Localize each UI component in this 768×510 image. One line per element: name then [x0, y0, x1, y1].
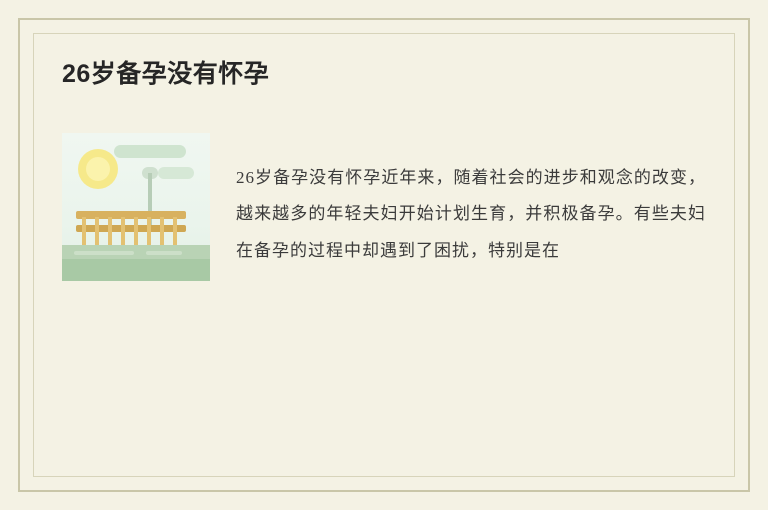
cloud-small-icon: [158, 167, 194, 179]
article-thumbnail[interactable]: [62, 133, 210, 281]
article-page: 26岁备孕没有怀孕: [0, 0, 768, 510]
fence-slat: [173, 217, 177, 247]
fence-slat: [134, 217, 138, 247]
fence-slat: [95, 217, 99, 247]
fence-slat: [108, 217, 112, 247]
fence-slat: [160, 217, 164, 247]
ground-stripe: [146, 251, 182, 255]
fence-slat: [82, 217, 86, 247]
sun-core-icon: [86, 157, 110, 181]
article-excerpt: 26岁备孕没有怀孕近年来，随着社会的进步和观念的改变，越来越多的年轻夫妇开始计划…: [236, 150, 706, 270]
article-body: 26岁备孕没有怀孕近年来，随着社会的进步和观念的改变，越来越多的年轻夫妇开始计划…: [62, 133, 706, 287]
ground-stripe: [74, 251, 134, 255]
article-content: 26岁备孕没有怀孕: [62, 58, 706, 460]
fence-rail-top: [76, 211, 186, 219]
page-title: 26岁备孕没有怀孕: [62, 58, 706, 91]
ground-lower: [62, 259, 210, 281]
fence-rail-bottom: [76, 225, 186, 232]
cloud-icon: [114, 145, 186, 158]
fence-slat: [147, 217, 151, 247]
fence-slat: [121, 217, 125, 247]
